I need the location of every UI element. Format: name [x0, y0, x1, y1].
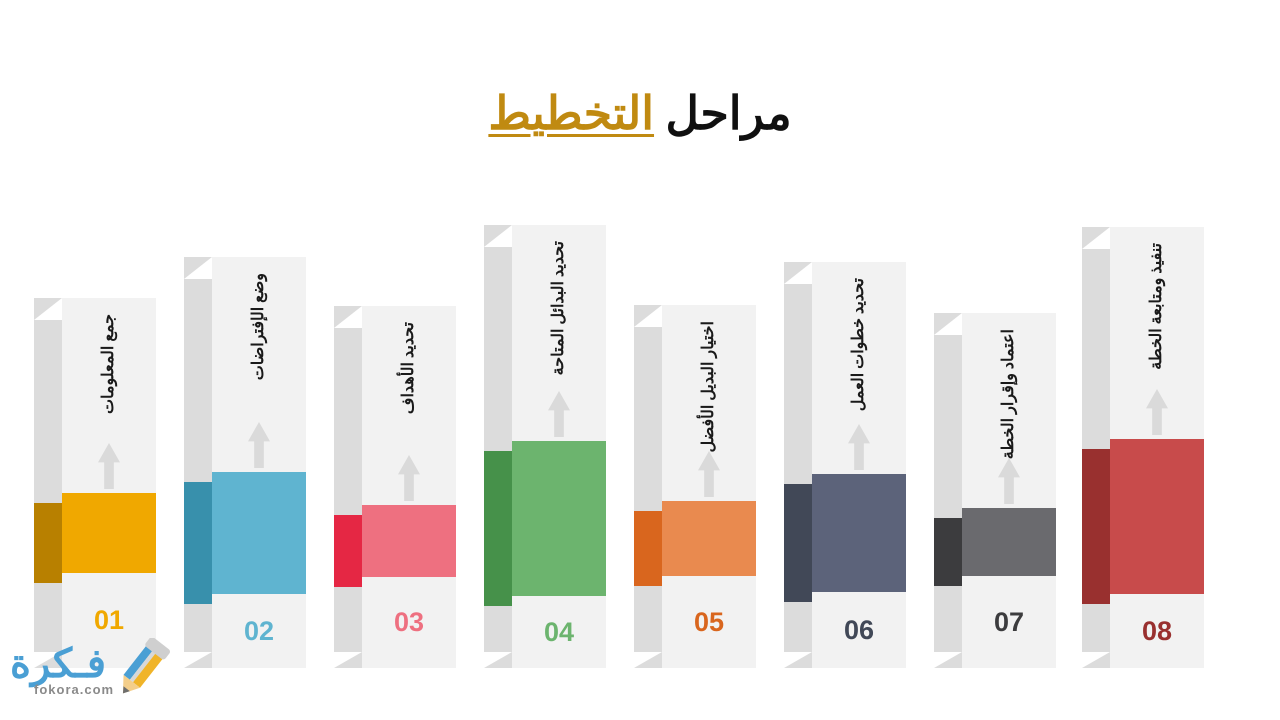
- up-arrow-shape: [98, 443, 120, 489]
- column-number: 02: [212, 594, 306, 668]
- column-band-front: [512, 441, 606, 596]
- column-band-front: [962, 508, 1056, 576]
- column-band-side: [934, 518, 962, 586]
- column-side-face: [34, 298, 62, 668]
- column-number: 08: [1110, 594, 1204, 668]
- column-number: 07: [962, 576, 1056, 668]
- watermark-logo: فـكرة fokora.com: [6, 636, 206, 708]
- column-band-side: [334, 515, 362, 587]
- up-arrow-shape: [998, 458, 1020, 504]
- column-band-front: [362, 505, 456, 577]
- up-arrow-shape: [848, 424, 870, 470]
- up-arrow-shape: [1146, 389, 1168, 435]
- up-arrow-icon: [1110, 387, 1204, 437]
- column-band-side: [34, 503, 62, 583]
- column-band-front: [662, 501, 756, 576]
- column-06[interactable]: تحديد خطوات العمل06: [784, 262, 906, 668]
- up-arrow-icon: [962, 456, 1056, 506]
- column-side-face: [184, 257, 212, 668]
- column-band-front: [1110, 439, 1204, 594]
- column-band-side: [784, 484, 812, 602]
- column-number: 06: [812, 592, 906, 668]
- column-04[interactable]: تحديد البدائل المتاحة04: [484, 225, 606, 668]
- column-band-side: [184, 482, 212, 604]
- column-band-front: [62, 493, 156, 573]
- up-arrow-icon: [512, 389, 606, 439]
- column-side-face: [784, 262, 812, 668]
- watermark-domain: fokora.com: [34, 682, 114, 697]
- up-arrow-icon: [62, 441, 156, 491]
- up-arrow-shape: [248, 422, 270, 468]
- column-03[interactable]: تحديد الأهداف03: [334, 306, 456, 668]
- column-01[interactable]: جمع المعلومات01: [34, 298, 156, 668]
- up-arrow-icon: [212, 420, 306, 470]
- infographic-columns: جمع المعلومات01وضع الإفتراضات02تحديد الأ…: [0, 0, 1280, 720]
- column-side-face: [634, 305, 662, 668]
- column-band-front: [212, 472, 306, 594]
- up-arrow-icon: [662, 449, 756, 499]
- column-band-side: [484, 451, 512, 606]
- up-arrow-shape: [548, 391, 570, 437]
- watermark-word: فـكرة: [10, 640, 106, 687]
- column-number: 05: [662, 576, 756, 668]
- column-side-face: [334, 306, 362, 668]
- column-number: 04: [512, 596, 606, 668]
- column-08[interactable]: تنفيذ ومتابعة الخطة08: [1082, 227, 1204, 668]
- column-02[interactable]: وضع الإفتراضات02: [184, 257, 306, 668]
- column-side-face: [934, 313, 962, 668]
- column-number: 03: [362, 577, 456, 668]
- pencil-icon: [112, 638, 174, 704]
- column-05[interactable]: اختيار البديل الأفضل05: [634, 305, 756, 668]
- column-07[interactable]: اعتماد وإقرار الخطة07: [934, 313, 1056, 668]
- up-arrow-icon: [362, 453, 456, 503]
- up-arrow-shape: [398, 455, 420, 501]
- column-band-side: [1082, 449, 1110, 604]
- up-arrow-shape: [698, 451, 720, 497]
- up-arrow-icon: [812, 422, 906, 472]
- column-band-front: [812, 474, 906, 592]
- column-band-side: [634, 511, 662, 586]
